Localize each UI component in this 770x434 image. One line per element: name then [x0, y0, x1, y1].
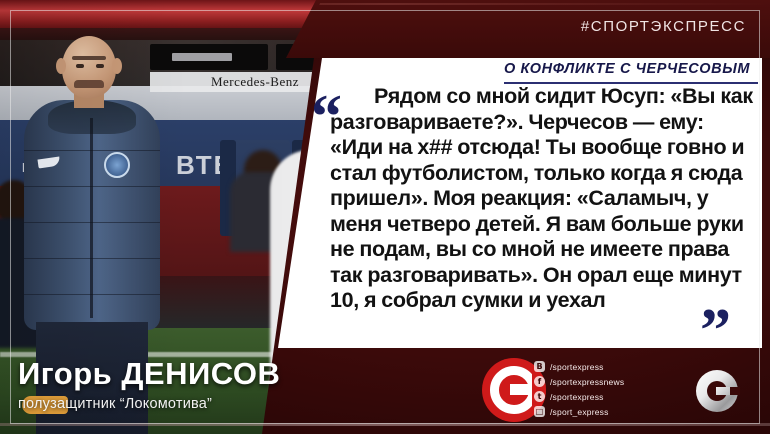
social-handle: /sportexpress: [550, 362, 604, 372]
bottom-divider: [0, 423, 770, 426]
social-link-facebook[interactable]: f /sportexpressnews: [534, 375, 624, 388]
social-links-list: B /sportexpress f /sportexpressnews t /s…: [534, 360, 624, 420]
quote-close-mark: ”: [700, 300, 727, 362]
person-role: полузащитник “Локомотива”: [18, 396, 280, 412]
social-handle: /sport_express: [550, 407, 609, 417]
vk-icon: B: [534, 361, 545, 372]
person-block: Игорь ДЕНИСОВ полузащитник “Локомотива”: [18, 358, 280, 412]
facebook-icon: f: [534, 376, 545, 387]
topic-underline: [504, 82, 758, 84]
twitter-icon: t: [534, 391, 545, 402]
social-handle: /sportexpress: [550, 392, 604, 402]
quote-body: Рядом со мной сидит Юсуп: «Вы как разгов…: [330, 84, 754, 314]
quote-card: Mercedes-Benz ВТБ ВТБ ВТБ ВТБ: [0, 0, 770, 434]
monogram-cross: [716, 387, 730, 395]
topic-wrapper: О КОНФЛИКТЕ С ЧЕРЧЕСОВЫМ: [504, 60, 756, 81]
topic-label: О КОНФЛИКТЕ С ЧЕРЧЕСОВЫМ: [504, 61, 756, 81]
quote-text: Рядом со мной сидит Юсуп: «Вы как разгов…: [330, 84, 754, 314]
hashtag-label: #СПОРТЭКСПРЕСС: [581, 18, 746, 35]
social-link-vk[interactable]: B /sportexpress: [534, 360, 624, 373]
social-link-instagram[interactable]: □ /sport_express: [534, 405, 624, 418]
social-handle: /sportexpressnews: [550, 377, 624, 387]
social-link-twitter[interactable]: t /sportexpress: [534, 390, 624, 403]
se-monogram-icon[interactable]: [696, 370, 738, 412]
instagram-icon: □: [534, 406, 545, 417]
person-name: Игорь ДЕНИСОВ: [18, 358, 280, 391]
